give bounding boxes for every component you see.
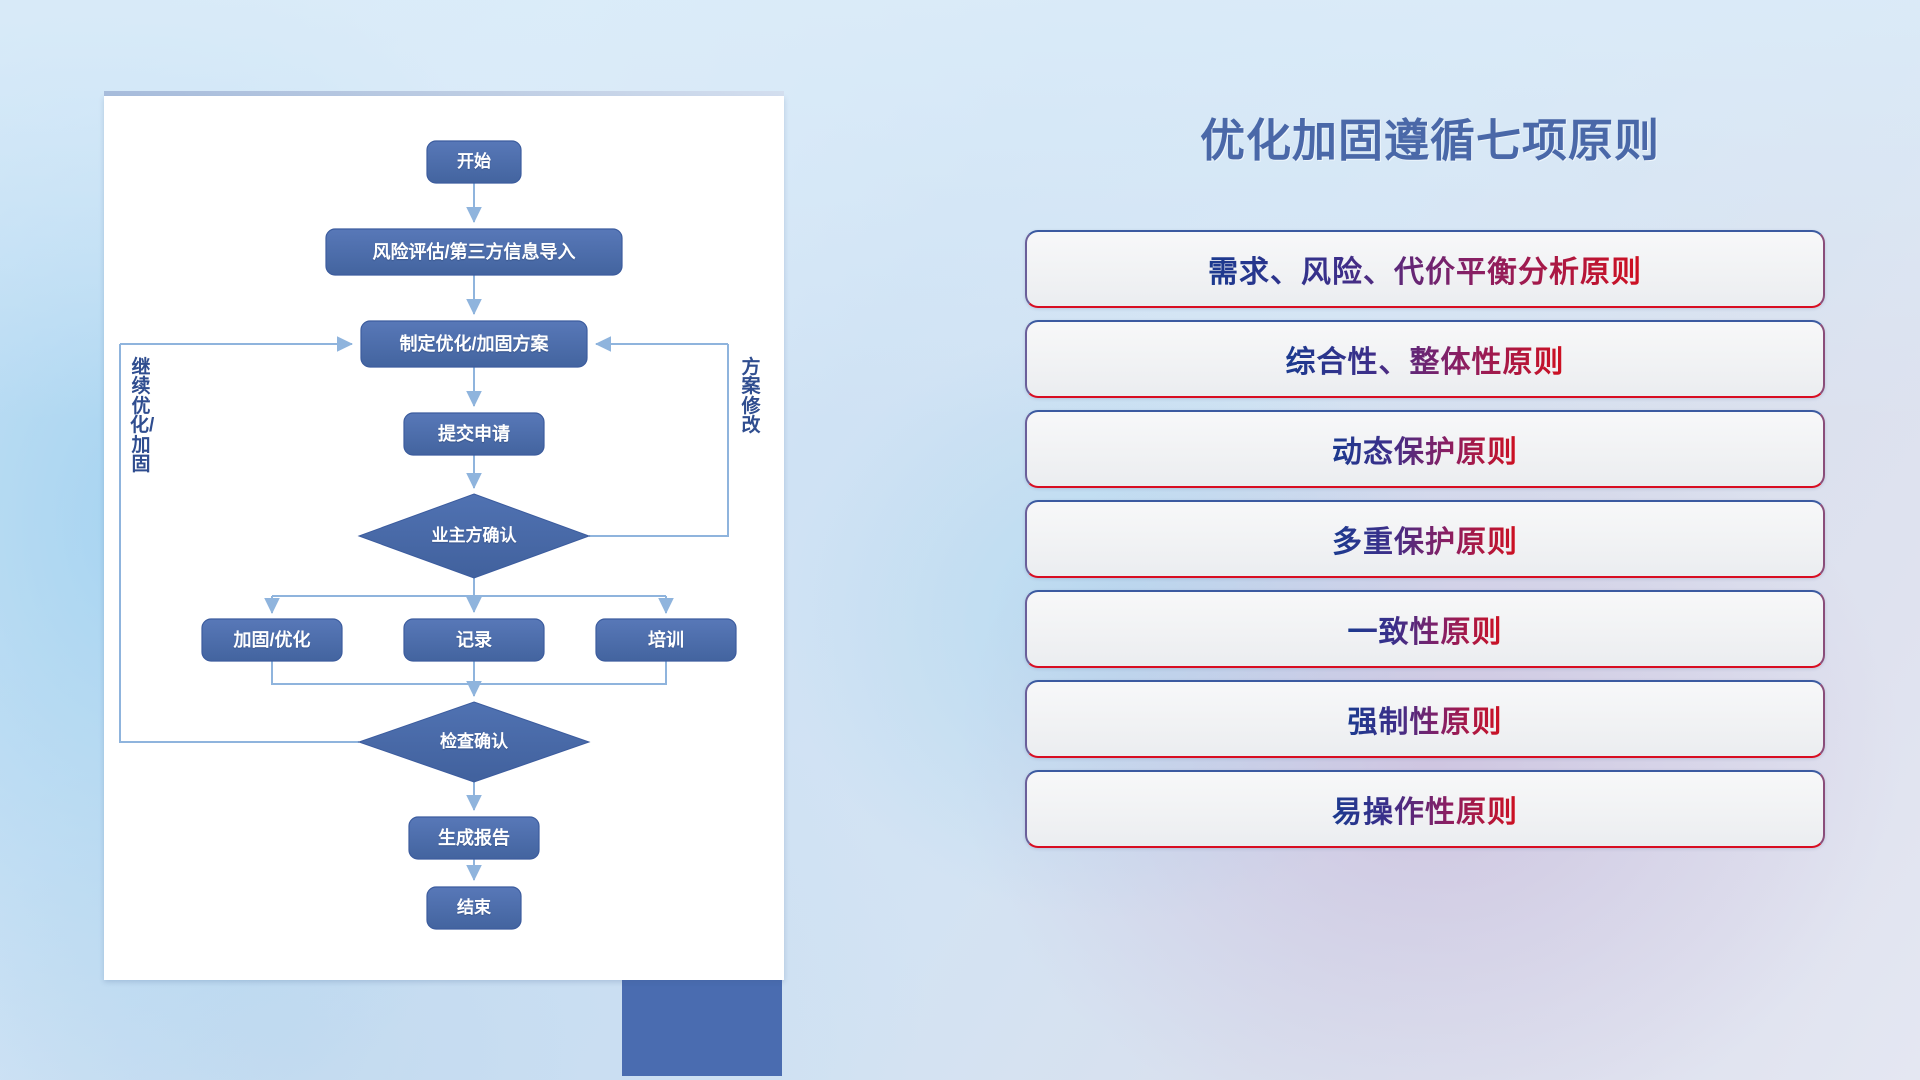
flow-edge-label-continue-optimize: 继续优化/加固 [130,358,152,474]
flowchart-card: 开始 风险评估/第三方信息导入 制定优化/加固方案 提交申请 业主方确认 加固/… [104,96,784,980]
principle-card[interactable]: 动态保护原则 [1025,410,1825,488]
principles-panel: 优化加固遵循七项原则 需求、风险、代价平衡分析原则 综合性、整体性原则 动态保护… [1020,96,1840,996]
principle-label: 强制性原则 [1348,697,1503,741]
principle-label: 多重保护原则 [1332,517,1518,561]
principles-list: 需求、风险、代价平衡分析原则 综合性、整体性原则 动态保护原则 多重保护原则 一… [1025,230,1825,860]
principle-card[interactable]: 综合性、整体性原则 [1025,320,1825,398]
principle-label: 动态保护原则 [1332,427,1518,471]
principle-label: 综合性、整体性原则 [1286,337,1565,381]
principle-card[interactable]: 强制性原则 [1025,680,1825,758]
principle-card[interactable]: 一致性原则 [1025,590,1825,668]
principle-card[interactable]: 需求、风险、代价平衡分析原则 [1025,230,1825,308]
principle-label: 易操作性原则 [1332,787,1518,831]
principle-label: 需求、风险、代价平衡分析原则 [1208,247,1642,291]
flow-edge-label-plan-revision: 方案修改 [740,358,762,436]
flowchart-panel: 开始 风险评估/第三方信息导入 制定优化/加固方案 提交申请 业主方确认 加固/… [104,96,784,976]
principle-card[interactable]: 多重保护原则 [1025,500,1825,578]
page-title: 优化加固遵循七项原则 [1020,104,1840,169]
principle-label: 一致性原则 [1348,607,1503,651]
principle-card[interactable]: 易操作性原则 [1025,770,1825,848]
flowchart-canvas [104,96,784,980]
